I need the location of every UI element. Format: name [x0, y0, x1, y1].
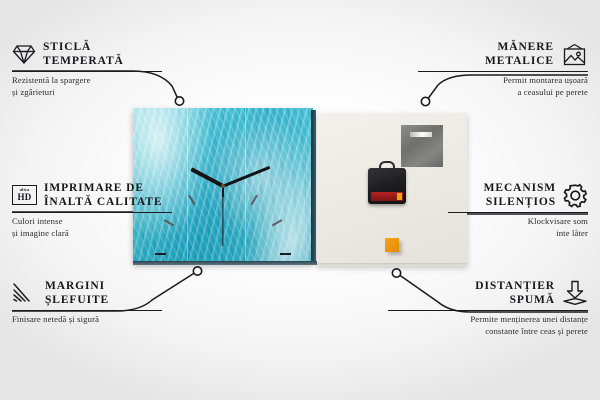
feature-title-line-2: SPUMĂ	[510, 293, 555, 307]
feature-title-handles: MĂNERE METALICE	[418, 40, 588, 68]
feature-divider	[12, 310, 162, 311]
foam-spacer	[385, 238, 399, 252]
callout-dot-tempered-glass	[175, 97, 183, 105]
clock-mechanism	[368, 168, 406, 204]
clock-bottom-edge	[133, 261, 317, 265]
diamond-icon	[12, 44, 36, 65]
clock-front-panel	[133, 108, 313, 263]
feature-title-line-2: METALICE	[485, 54, 554, 68]
feature-subtitle-tempered-glass: Rezistentă la spargere și zgârieturi	[12, 75, 162, 98]
callout-dot-edges	[193, 267, 201, 275]
feature-tempered-glass: STICLĂ TEMPERATĂ Rezistentă la spargere …	[12, 40, 162, 98]
gear-icon	[563, 183, 588, 208]
feature-divider	[448, 212, 588, 213]
polished-edges-icon	[12, 282, 38, 304]
feature-foam-spacer: DISTANȚIER SPUMĂ Permite menținerea unei…	[388, 279, 588, 337]
feature-polished-edges: MARGINI ȘLEFUITE Finisare netedă și sigu…	[12, 279, 162, 326]
feature-title-line-1: MECANISM	[484, 181, 556, 195]
feature-divider	[388, 310, 588, 311]
feature-silent-mechanism: MECANISM SILENȚIOS Klockvisare som inte …	[448, 181, 588, 239]
battery	[371, 192, 403, 201]
feature-subtitle-edges: Finisare netedă și sigură	[12, 314, 162, 326]
feature-title-line-2: ȘLEFUITE	[45, 293, 109, 307]
product-infographic: STICLĂ TEMPERATĂ Rezistentă la spargere …	[0, 0, 600, 400]
feature-metal-handles: MĂNERE METALICE Permit montarea ușoară a…	[418, 40, 588, 98]
feature-subtitle-handles: Permit montarea ușoară a ceasului pe per…	[418, 75, 588, 98]
feature-title-mechanism: MECANISM SILENȚIOS	[448, 181, 588, 209]
mechanism-hanging-loop	[379, 161, 395, 170]
picture-frame-icon	[561, 43, 588, 66]
clock-center-pivot	[221, 184, 225, 188]
feature-subtitle-spacer: Permite menținerea unei distanțe constan…	[388, 314, 588, 337]
feature-title-line-2: TEMPERATĂ	[43, 54, 124, 68]
metal-hanger-plate	[401, 125, 443, 167]
back-panel-bottom-edge	[317, 263, 467, 266]
feature-title-line-2: SILENȚIOS	[486, 195, 556, 209]
feature-title-line-1: MARGINI	[45, 279, 109, 293]
feature-title-tempered-glass: STICLĂ TEMPERATĂ	[12, 40, 162, 68]
clock-back-panel	[317, 113, 467, 265]
feature-title-line-1: DISTANȚIER	[475, 279, 555, 293]
feature-title-edges: MARGINI ȘLEFUITE	[12, 279, 162, 307]
feature-divider	[12, 71, 162, 72]
feature-title-line-1: MĂNERE	[497, 40, 554, 54]
callout-dot-spacer	[392, 269, 400, 277]
feature-title-line-1: STICLĂ	[43, 40, 124, 54]
feature-subtitle-mechanism: Klockvisare som inte låter	[448, 216, 588, 239]
feature-divider	[418, 71, 588, 72]
callout-dot-handles	[421, 97, 429, 105]
feature-title-spacer: DISTANȚIER SPUMĂ	[388, 279, 588, 307]
clock-side-edge	[311, 110, 316, 265]
product-image	[133, 108, 467, 268]
ultra-hd-icon: ultra HD	[12, 185, 37, 205]
down-arrow-pad-icon	[562, 280, 588, 306]
